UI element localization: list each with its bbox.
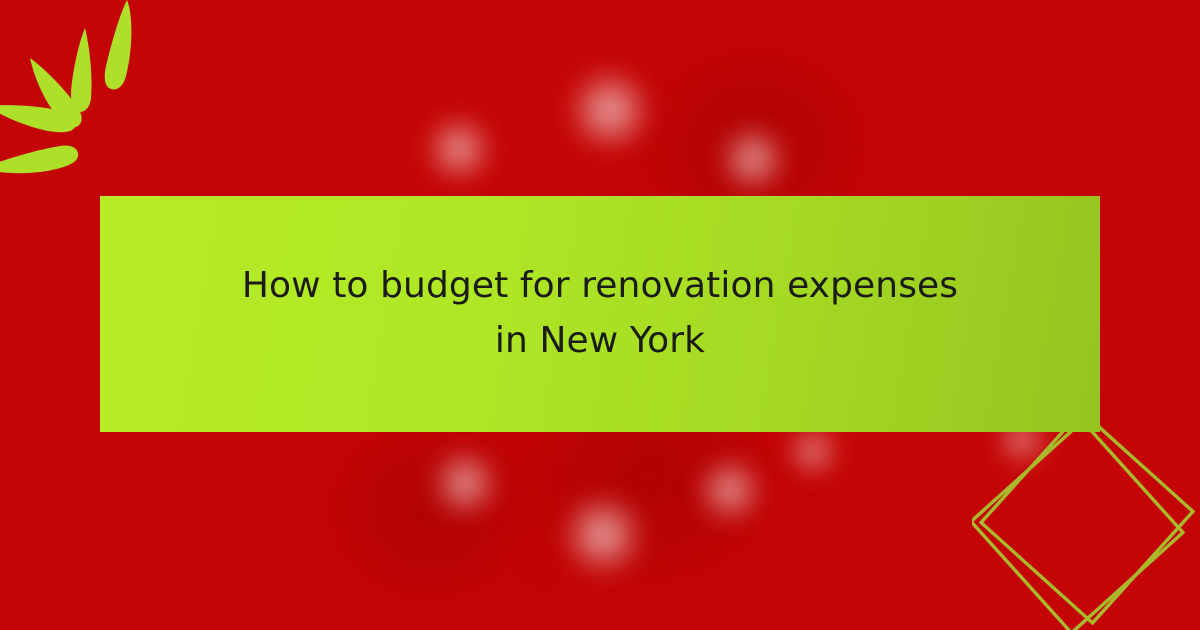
bokeh-circle bbox=[790, 428, 836, 474]
sunburst-rays-icon bbox=[0, 0, 214, 192]
background-haze bbox=[330, 430, 530, 590]
poster-canvas: How to budget for renovation expenses in… bbox=[0, 0, 1200, 630]
headline-banner: How to budget for renovation expenses in… bbox=[100, 196, 1100, 432]
bokeh-circle bbox=[570, 70, 650, 150]
bokeh-circle bbox=[428, 118, 490, 180]
page-title: How to budget for renovation expenses in… bbox=[220, 259, 980, 368]
bokeh-circle bbox=[564, 496, 642, 574]
bokeh-circle bbox=[700, 460, 760, 520]
bokeh-circle bbox=[722, 128, 784, 190]
bokeh-circle bbox=[434, 452, 496, 514]
overlapping-squares-decoration bbox=[972, 408, 1200, 630]
